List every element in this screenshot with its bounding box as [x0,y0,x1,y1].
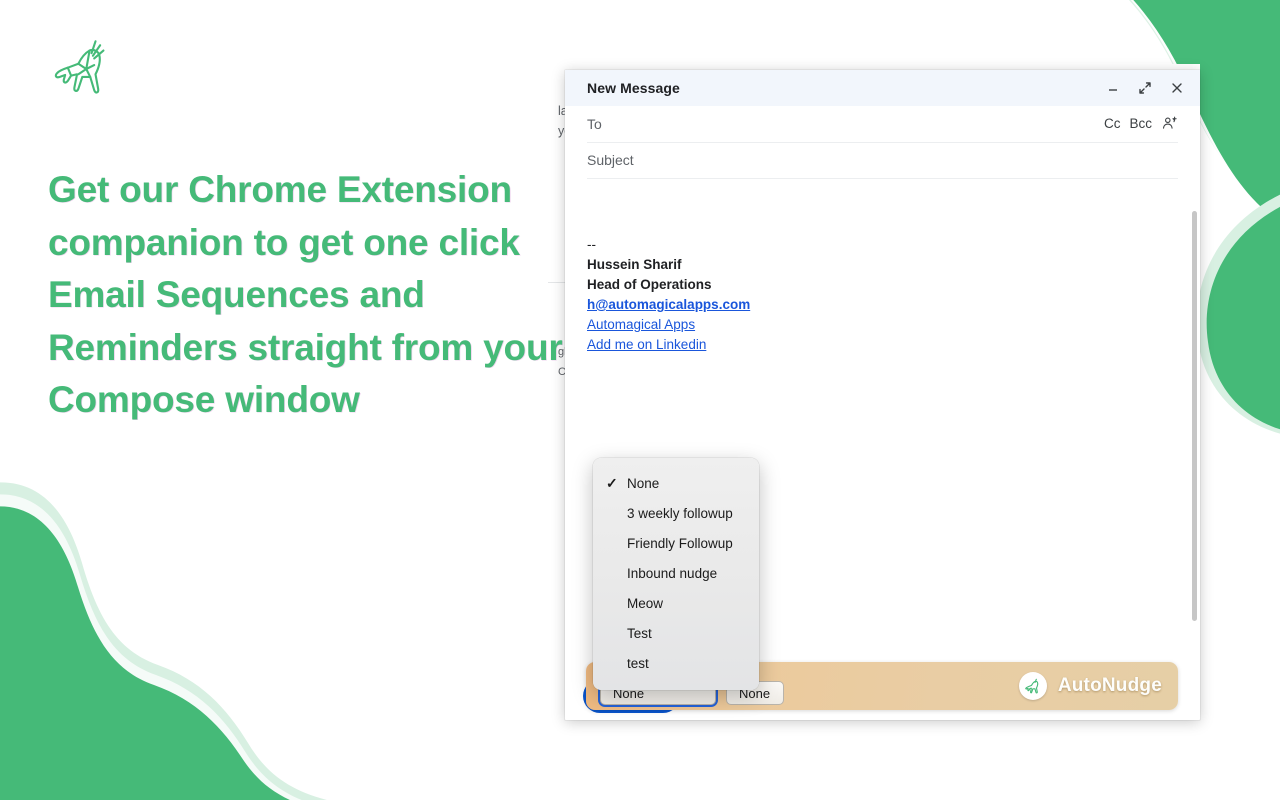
dropdown-item-label: Friendly Followup [627,536,733,551]
check-icon: ✓ [606,475,618,492]
dropdown-item-inbound-nudge[interactable]: Inbound nudge [593,558,759,588]
autonudge-brand: AutoNudge [1019,672,1162,700]
signature-company-link[interactable]: Automagical Apps [587,315,1178,335]
email-signature: -- Hussein Sharif Head of Operations h@a… [587,235,1178,355]
bcc-button[interactable]: Bcc [1129,116,1152,131]
subject-input[interactable]: Subject [587,152,634,168]
autonudge-unicorn-icon [1019,672,1047,700]
to-field-row[interactable]: To Cc Bcc [587,106,1178,143]
window-controls [1104,79,1186,97]
autonudge-brand-name: AutoNudge [1058,675,1162,697]
signature-separator: -- [587,235,1178,255]
green-blob-bottom-left [0,455,340,800]
sequence-dropdown-menu: ✓ None 3 weekly followup Friendly Follow… [593,458,759,690]
unicorn-logo-icon [48,36,114,102]
body-scrollbar-thumb[interactable] [1192,211,1197,621]
compose-window-title: New Message [587,80,680,96]
dropdown-item-friendly-followup[interactable]: Friendly Followup [593,528,759,558]
close-icon[interactable] [1168,79,1186,97]
dropdown-item-3-weekly-followup[interactable]: 3 weekly followup [593,498,759,528]
dropdown-item-label: Meow [627,596,663,611]
dropdown-item-meow[interactable]: Meow [593,588,759,618]
dropdown-item-test-lower[interactable]: test [593,648,759,678]
dropdown-item-label: Inbound nudge [627,566,717,581]
dropdown-item-label: Test [627,626,652,641]
expand-icon[interactable] [1136,79,1154,97]
dropdown-item-label: 3 weekly followup [627,506,733,521]
subject-field-row[interactable]: Subject [587,143,1178,179]
promo-panel: Get our Chrome Extension companion to ge… [48,36,568,427]
add-contact-icon[interactable] [1161,115,1178,132]
page-title: Get our Chrome Extension companion to ge… [48,164,568,427]
cc-button[interactable]: Cc [1104,116,1121,131]
signature-role: Head of Operations [587,275,1178,295]
compose-header: New Message [565,70,1200,106]
signature-linkedin-link[interactable]: Add me on Linkedin [587,335,1178,355]
to-input[interactable]: To [587,116,602,132]
dropdown-item-label: None [627,476,659,491]
dropdown-item-test-upper[interactable]: Test [593,618,759,648]
signature-name: Hussein Sharif [587,255,1178,275]
dropdown-item-label: test [627,656,649,671]
signature-email-link[interactable]: h@automagicalapps.com [587,295,1178,315]
cc-bcc-group: Cc Bcc [1104,115,1178,132]
minimize-icon[interactable] [1104,79,1122,97]
dropdown-item-none[interactable]: ✓ None [593,468,759,498]
